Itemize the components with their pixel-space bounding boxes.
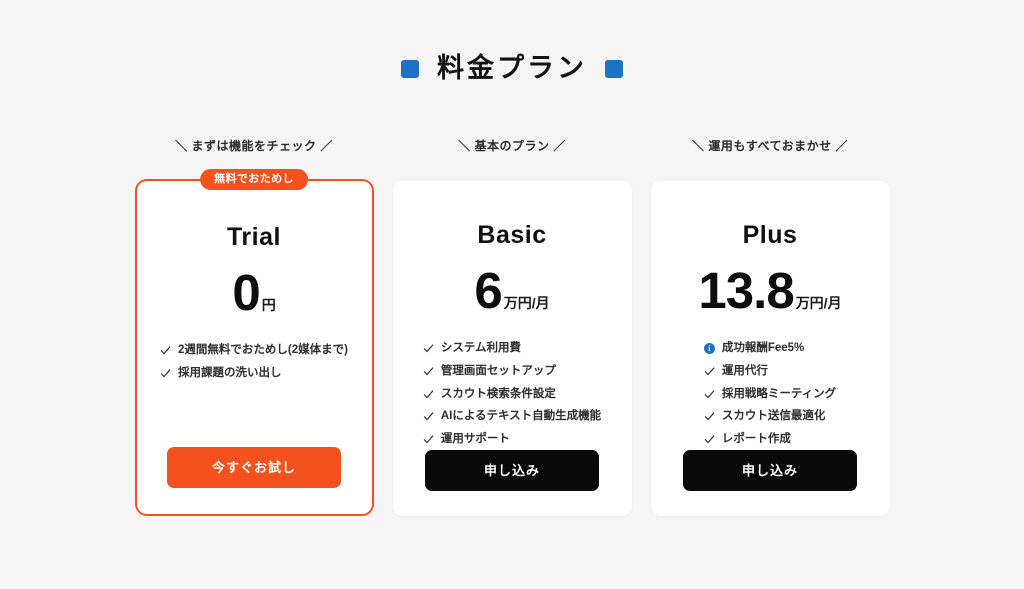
list-item: 運用サポート [423, 433, 601, 447]
list-item: 2週間無料でおためし(2媒体まで) [160, 344, 348, 358]
plan-tagline: ＼ 基本のプラン ／ [458, 140, 566, 154]
list-item-label: 採用課題の洗い出し [178, 367, 282, 381]
basic-cta-button[interactable]: 申し込み [425, 450, 599, 491]
status-badge: 無料でおためし [200, 169, 308, 190]
check-icon [423, 389, 434, 400]
list-item: 管理画面セットアップ [423, 365, 601, 379]
check-icon [160, 368, 171, 379]
price-amount: 13.8 [698, 265, 793, 316]
cta-container: 今すぐお試し [137, 447, 372, 488]
check-icon [423, 434, 434, 445]
price-amount: 6 [474, 265, 501, 316]
cta-container: 申し込み [393, 450, 632, 491]
page-title: 料金プラン [0, 55, 1024, 82]
list-item: スカウト検索条件設定 [423, 388, 601, 402]
list-item: i 成功報酬Fee5% [704, 342, 836, 356]
plan-card-trial[interactable]: 無料でおためし Trial 0 円 2週間無料でおためし(2媒体まで) [135, 179, 374, 516]
list-item-label: スカウト検索条件設定 [441, 388, 556, 402]
check-icon [423, 411, 434, 422]
list-item: システム利用費 [423, 342, 601, 356]
plan-card-plus[interactable]: Plus 13.8 万円/月 i 成功報酬Fee5% [651, 181, 890, 516]
plan-price: 6 万円/月 [474, 265, 549, 316]
check-icon [423, 343, 434, 354]
list-item-label: 運用サポート [441, 433, 510, 447]
check-icon [704, 389, 715, 400]
plan-tagline: ＼ まずは機能をチェック ／ [175, 140, 333, 154]
list-item-label: システム利用費 [441, 342, 521, 356]
plan-column-basic: ＼ 基本のプラン ／ Basic 6 万円/月 システム利用費 [393, 140, 632, 516]
list-item-label: スカウト送信最適化 [722, 410, 826, 424]
price-unit: 万円/月 [796, 296, 842, 310]
blue-square-right-icon [605, 60, 623, 78]
plan-column-plus: ＼ 運用もすべておまかせ ／ Plus 13.8 万円/月 i 成功報酬Fee5… [651, 140, 890, 516]
plan-column-trial: ＼ まずは機能をチェック ／ 無料でおためし Trial 0 円 2週間無料でお… [135, 140, 374, 516]
info-icon[interactable]: i [704, 343, 715, 354]
price-unit: 円 [262, 298, 276, 312]
list-item-label: レポート作成 [722, 433, 791, 447]
trial-cta-button[interactable]: 今すぐお試し [167, 447, 341, 488]
list-item: 採用課題の洗い出し [160, 367, 348, 381]
list-item-label: 2週間無料でおためし(2媒体まで) [178, 344, 348, 358]
plan-name: Trial [227, 225, 281, 250]
plan-card-basic[interactable]: Basic 6 万円/月 システム利用費 [393, 181, 632, 516]
feature-list: 2週間無料でおためし(2媒体まで) 採用課題の洗い出し [137, 344, 372, 381]
list-item-label: 管理画面セットアップ [441, 365, 556, 379]
list-item: レポート作成 [704, 433, 836, 447]
plan-list: ＼ まずは機能をチェック ／ 無料でおためし Trial 0 円 2週間無料でお… [0, 140, 1024, 516]
check-icon [704, 366, 715, 377]
list-item-label: 運用代行 [722, 365, 768, 379]
check-icon [160, 345, 171, 356]
plus-cta-button[interactable]: 申し込み [683, 450, 857, 491]
feature-list: システム利用費 管理画面セットアップ スカウト検索条 [393, 342, 632, 447]
check-icon [704, 434, 715, 445]
price-unit: 万円/月 [504, 296, 550, 310]
check-icon [423, 366, 434, 377]
price-amount: 0 [232, 267, 259, 318]
list-item-label: 採用戦略ミーティング [722, 388, 836, 402]
list-item: スカウト送信最適化 [704, 410, 836, 424]
check-icon [704, 411, 715, 422]
list-item: AIによるテキスト自動生成機能 [423, 410, 601, 424]
plan-price: 13.8 万円/月 [698, 265, 841, 316]
feature-list: i 成功報酬Fee5% 運用代行 [651, 342, 890, 447]
list-item-label: AIによるテキスト自動生成機能 [441, 410, 601, 424]
plan-price: 0 円 [232, 267, 275, 318]
plan-tagline: ＼ 運用もすべておまかせ ／ [692, 140, 848, 154]
cta-container: 申し込み [651, 450, 890, 491]
page-title-text: 料金プラン [437, 55, 587, 82]
list-item-label: 成功報酬Fee5% [722, 342, 804, 356]
list-item: 運用代行 [704, 365, 836, 379]
plan-name: Plus [743, 223, 798, 248]
blue-square-left-icon [401, 60, 419, 78]
plan-name: Basic [477, 223, 546, 248]
pricing-page: 料金プラン ＼ まずは機能をチェック ／ 無料でおためし Trial 0 円 [0, 0, 1024, 589]
list-item: 採用戦略ミーティング [704, 388, 836, 402]
